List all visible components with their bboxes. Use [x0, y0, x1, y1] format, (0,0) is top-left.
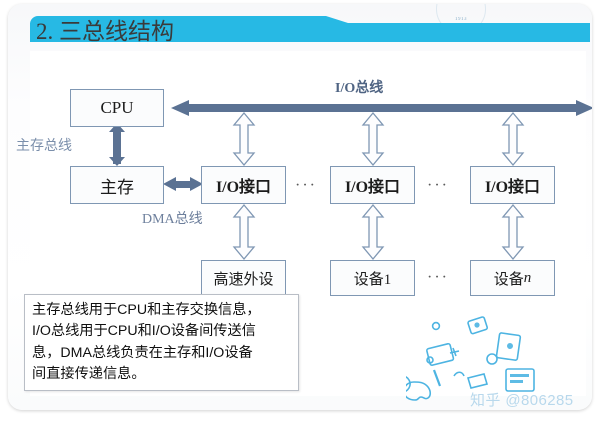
slide-frame: 1913 2. 三总线结构 I/O总线 主存总线 DMA总线: [8, 4, 592, 410]
caption-line: I/O总线用于CPU和I/O设备间传送信: [32, 321, 292, 342]
box-device-n: 设备n: [470, 260, 555, 296]
slide-root: 1913 2. 三总线结构 I/O总线 主存总线 DMA总线: [0, 0, 600, 422]
ellipsis-device-row: ···: [427, 269, 449, 287]
box-main-memory: 主存: [70, 166, 164, 204]
caption-line: 主存总线用于CPU和主存交换信息，: [32, 300, 292, 321]
io-bus-label: I/O总线: [335, 77, 383, 97]
box-io-interface-2: I/O接口: [330, 166, 415, 204]
box-io-interface-1: I/O接口: [201, 166, 286, 204]
caption-line: 间直接传递信息。: [32, 364, 292, 385]
box-io-interface-n: I/O接口: [470, 166, 555, 204]
main-memory-bus-label: 主存总线: [16, 135, 72, 155]
caption-line: 息，DMA总线负责在主存和I/O设备: [32, 343, 292, 364]
connector-bus-to-io-interface-1: [226, 111, 262, 167]
ellipsis-io-row-right: ···: [427, 177, 449, 195]
title-band-tip: [326, 16, 348, 23]
connector-bus-to-io-interface-2: [355, 111, 391, 167]
box-device-n-index: n: [524, 270, 532, 287]
dma-bus-label: DMA总线: [142, 208, 203, 228]
io-bus-arrow-left: [171, 100, 189, 116]
seal-year-label: 1913: [446, 17, 476, 22]
box-device-fast: 高速外设: [201, 260, 286, 296]
watermark-label: 知乎 @806285: [470, 389, 573, 410]
page-title: 2. 三总线结构: [36, 12, 174, 46]
dma-bus-arrow-left: [163, 177, 176, 191]
box-device-n-prefix: 设备: [494, 268, 524, 289]
connector-io-interface-1-to-device-fast: [226, 203, 262, 261]
box-device-1: 设备1: [330, 260, 415, 296]
connector-io-interface-2-to-device-1: [355, 203, 391, 261]
connector-io-interface-n-to-device-n: [495, 203, 531, 261]
main-memory-bus-arrow-down: [109, 157, 125, 166]
box-cpu: CPU: [70, 89, 164, 127]
io-bus-arrow-right: [576, 100, 592, 116]
connector-bus-to-io-interface-n: [495, 111, 531, 167]
caption-textbox: 主存总线用于CPU和主存交换信息， I/O总线用于CPU和I/O设备间传送信 息…: [24, 294, 299, 391]
ellipsis-io-row-left: ···: [295, 177, 317, 195]
